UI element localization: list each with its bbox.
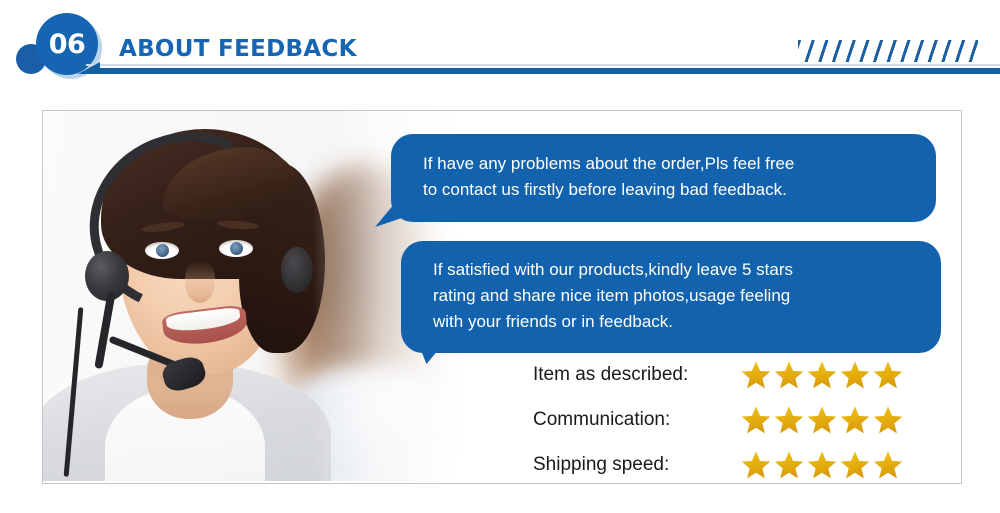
rating-row-shipping-speed: Shipping speed: bbox=[533, 442, 953, 484]
rating-label: Shipping speed: bbox=[533, 454, 733, 476]
star-icon bbox=[840, 450, 870, 480]
rating-label: Communication: bbox=[533, 409, 733, 431]
rating-row-communication: Communication: bbox=[533, 397, 953, 442]
speech-bubble-order-problems: If have any problems about the order,Pls… bbox=[391, 134, 936, 222]
rating-list: Item as described: Communication: Shippi… bbox=[533, 352, 953, 484]
star-icon bbox=[807, 450, 837, 480]
diagonal-stripes-icon bbox=[798, 40, 978, 62]
rating-row-item-as-described: Item as described: bbox=[533, 352, 953, 397]
rating-label: Item as described: bbox=[533, 364, 733, 386]
section-number-label: 06 bbox=[49, 31, 86, 58]
page-title: ABOUT FEEDBACK bbox=[119, 36, 357, 62]
rating-stars-item-as-described bbox=[741, 360, 903, 390]
star-icon bbox=[873, 360, 903, 390]
star-icon bbox=[840, 360, 870, 390]
bubble-1-line-1: If have any problems about the order,Pls… bbox=[423, 151, 912, 177]
header-divider-bar bbox=[94, 68, 1000, 74]
star-icon bbox=[807, 360, 837, 390]
rating-stars-communication bbox=[741, 405, 903, 435]
header-divider-thin bbox=[86, 64, 1000, 66]
star-icon bbox=[807, 405, 837, 435]
section-header: 06 ABOUT FEEDBACK bbox=[0, 0, 1000, 100]
rating-stars-shipping-speed bbox=[741, 450, 903, 480]
star-icon bbox=[873, 450, 903, 480]
star-icon bbox=[774, 360, 804, 390]
star-icon bbox=[840, 405, 870, 435]
bubble-1-line-2: to contact us firstly before leaving bad… bbox=[423, 177, 912, 203]
speech-bubble-leave-rating: If satisfied with our products,kindly le… bbox=[401, 241, 941, 353]
bubble-2-line-3: with your friends or in feedback. bbox=[433, 309, 917, 335]
star-icon bbox=[741, 450, 771, 480]
feedback-panel: If have any problems about the order,Pls… bbox=[42, 110, 962, 484]
star-icon bbox=[873, 405, 903, 435]
star-icon bbox=[741, 405, 771, 435]
star-icon bbox=[741, 360, 771, 390]
star-icon bbox=[774, 450, 804, 480]
headset-earcup-right bbox=[281, 247, 313, 293]
star-icon bbox=[774, 405, 804, 435]
bubble-2-line-2: rating and share nice item photos,usage … bbox=[433, 283, 917, 309]
bubble-2-line-1: If satisfied with our products,kindly le… bbox=[433, 257, 917, 283]
